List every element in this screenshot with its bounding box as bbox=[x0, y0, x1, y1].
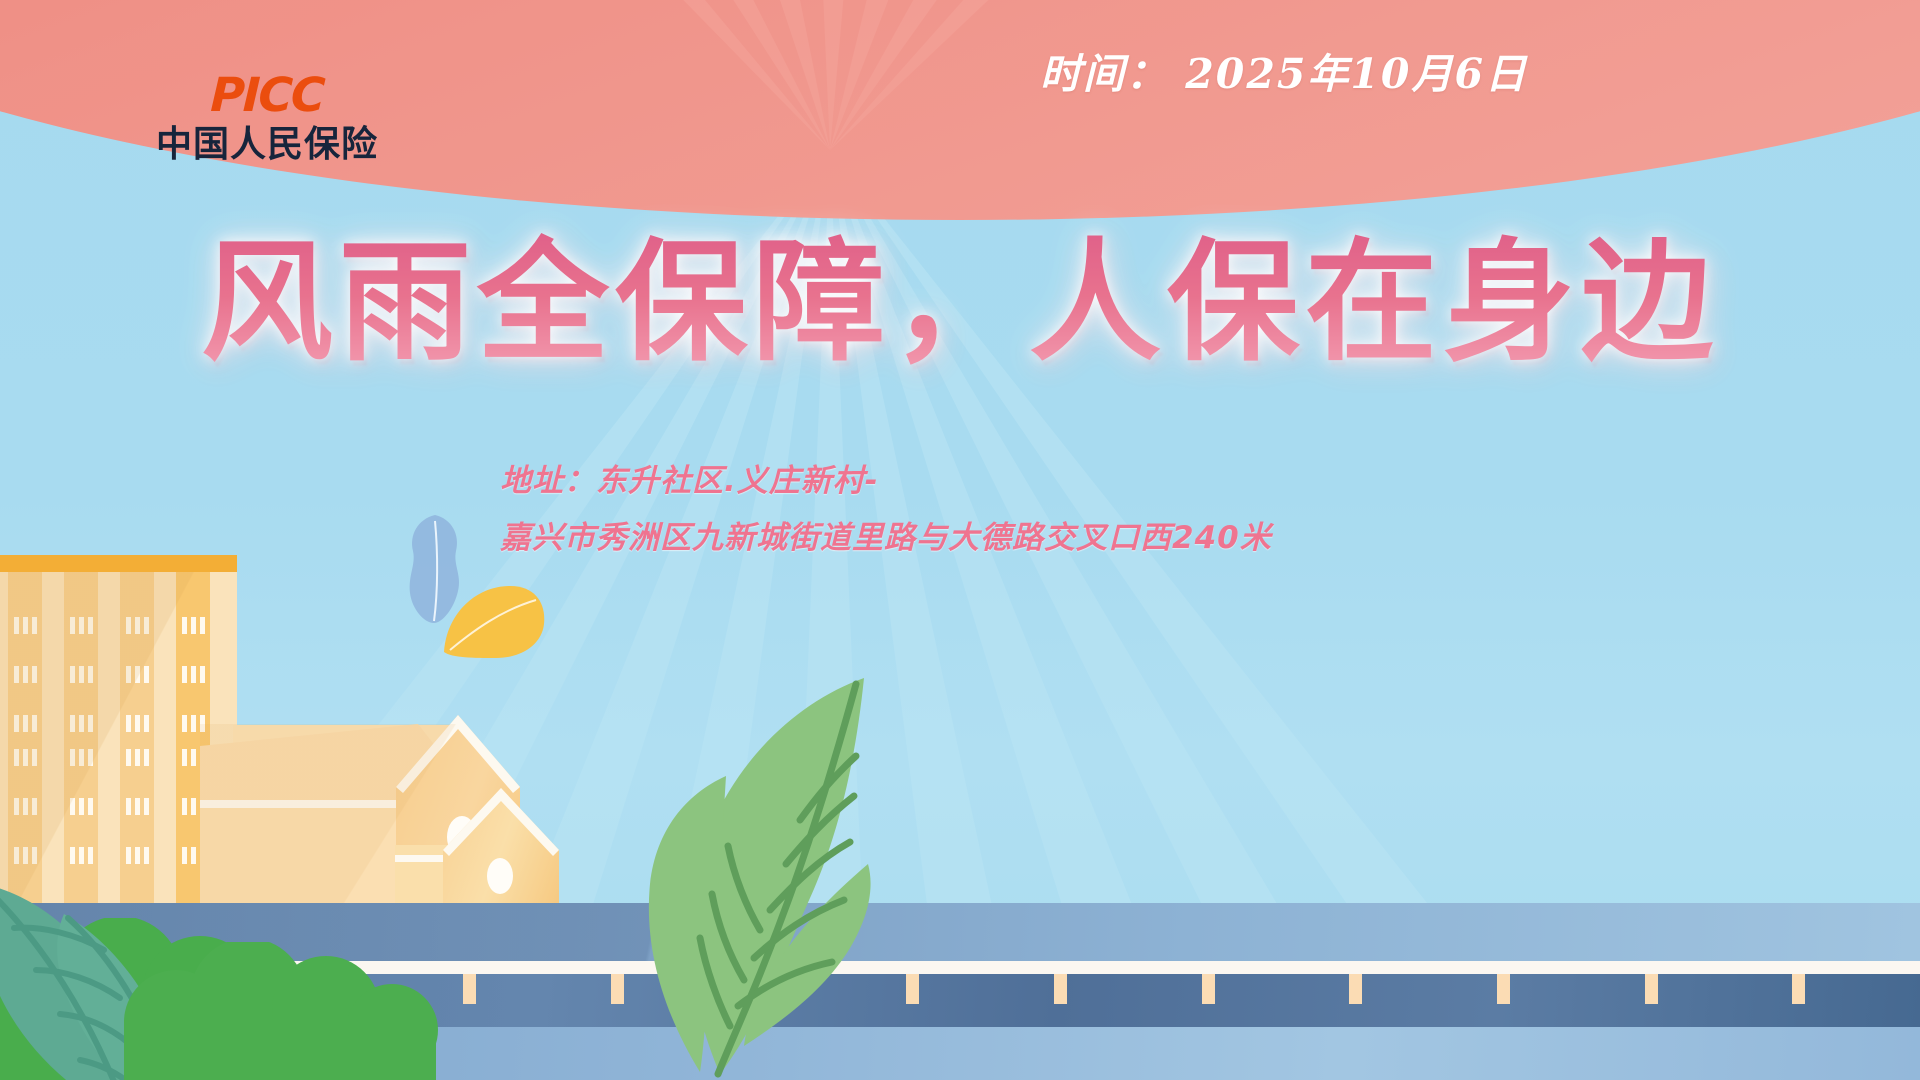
tower-window bbox=[23, 617, 28, 634]
tower-window bbox=[70, 617, 75, 634]
tower-window bbox=[32, 749, 37, 766]
foreground-large-leaf bbox=[588, 660, 888, 1080]
tower-window bbox=[200, 666, 205, 683]
tower-window bbox=[14, 798, 19, 815]
fence-post bbox=[1202, 974, 1215, 1004]
tower-window bbox=[144, 749, 149, 766]
tower-window bbox=[191, 749, 196, 766]
tower-window bbox=[32, 715, 37, 732]
large-house-trim bbox=[200, 800, 398, 808]
fence-post bbox=[1497, 974, 1510, 1004]
picc-logo: PICC 中国人民保险 bbox=[132, 72, 402, 164]
tower-window bbox=[23, 715, 28, 732]
small-house-gable bbox=[443, 788, 559, 916]
tower-window bbox=[88, 798, 93, 815]
address-line-2: 嘉兴市秀洲区九新城街道里路与大德路交叉口西240米 bbox=[500, 523, 1272, 554]
tower-window bbox=[79, 617, 84, 634]
tower-roof-cap bbox=[0, 555, 237, 572]
fence-post bbox=[1054, 974, 1067, 1004]
tower-window bbox=[32, 666, 37, 683]
tower-window bbox=[135, 798, 140, 815]
tower-window bbox=[126, 666, 131, 683]
tower-window bbox=[14, 715, 19, 732]
tower-window bbox=[135, 749, 140, 766]
fence-post bbox=[1792, 974, 1805, 1004]
fence-post bbox=[463, 974, 476, 1004]
event-date: 时间： 2025年10月6日 bbox=[1040, 40, 1528, 100]
address-line-1: 地址：东升社区.义庄新村- bbox=[500, 466, 1272, 497]
tower-window bbox=[70, 666, 75, 683]
small-house-annex-trim bbox=[395, 855, 451, 862]
tower-window bbox=[23, 798, 28, 815]
tower-window bbox=[126, 749, 131, 766]
tower-window bbox=[135, 715, 140, 732]
tower-window bbox=[191, 715, 196, 732]
tower-window bbox=[126, 617, 131, 634]
tower-window bbox=[14, 666, 19, 683]
tower-window bbox=[182, 749, 187, 766]
tower-window bbox=[70, 715, 75, 732]
tower-window bbox=[23, 666, 28, 683]
fence-post bbox=[906, 974, 919, 1004]
tower-window bbox=[32, 798, 37, 815]
tower-window bbox=[79, 749, 84, 766]
gold-leaf-decoration bbox=[440, 582, 548, 660]
tower-window bbox=[126, 798, 131, 815]
tower-window bbox=[14, 617, 19, 634]
small-house bbox=[443, 788, 559, 916]
tower-window bbox=[32, 617, 37, 634]
tower-window bbox=[88, 749, 93, 766]
tower-window bbox=[182, 666, 187, 683]
banner-canvas: PICC 中国人民保险 时间： 2025年10月6日 风雨全保障，人保在身边 地… bbox=[0, 0, 1920, 1080]
tower-window bbox=[182, 798, 187, 815]
tower-window bbox=[191, 617, 196, 634]
tower-window bbox=[70, 749, 75, 766]
headline-block: 风雨全保障，人保在身边 bbox=[0, 232, 1920, 385]
address-block: 地址：东升社区.义庄新村- 嘉兴市秀洲区九新城街道里路与大德路交叉口西240米 bbox=[500, 466, 1272, 554]
tower-window bbox=[191, 798, 196, 815]
tower-window bbox=[144, 617, 149, 634]
tower-window bbox=[144, 666, 149, 683]
tower-window bbox=[70, 798, 75, 815]
tower-window bbox=[182, 617, 187, 634]
small-house-window bbox=[487, 858, 513, 894]
tower-window bbox=[135, 666, 140, 683]
tower-window bbox=[88, 666, 93, 683]
tower-window bbox=[14, 749, 19, 766]
fence-post bbox=[1349, 974, 1362, 1004]
tower-window bbox=[23, 749, 28, 766]
picc-wordmark-icon: PICC bbox=[131, 72, 403, 119]
fence-post bbox=[1645, 974, 1658, 1004]
foreground-bush-mid bbox=[120, 942, 440, 1080]
tower-window bbox=[126, 715, 131, 732]
tower-window bbox=[135, 617, 140, 634]
tower-window bbox=[200, 617, 205, 634]
tower-window bbox=[144, 715, 149, 732]
tower-window bbox=[191, 666, 196, 683]
headline-title: 风雨全保障，人保在身边 bbox=[187, 232, 1733, 385]
tower-window bbox=[182, 715, 187, 732]
tower-window bbox=[79, 715, 84, 732]
tower-window bbox=[88, 617, 93, 634]
picc-chinese-name: 中国人民保险 bbox=[132, 126, 402, 164]
tower-window bbox=[144, 798, 149, 815]
tower-window bbox=[79, 666, 84, 683]
tower-window bbox=[88, 715, 93, 732]
tower-window bbox=[79, 798, 84, 815]
